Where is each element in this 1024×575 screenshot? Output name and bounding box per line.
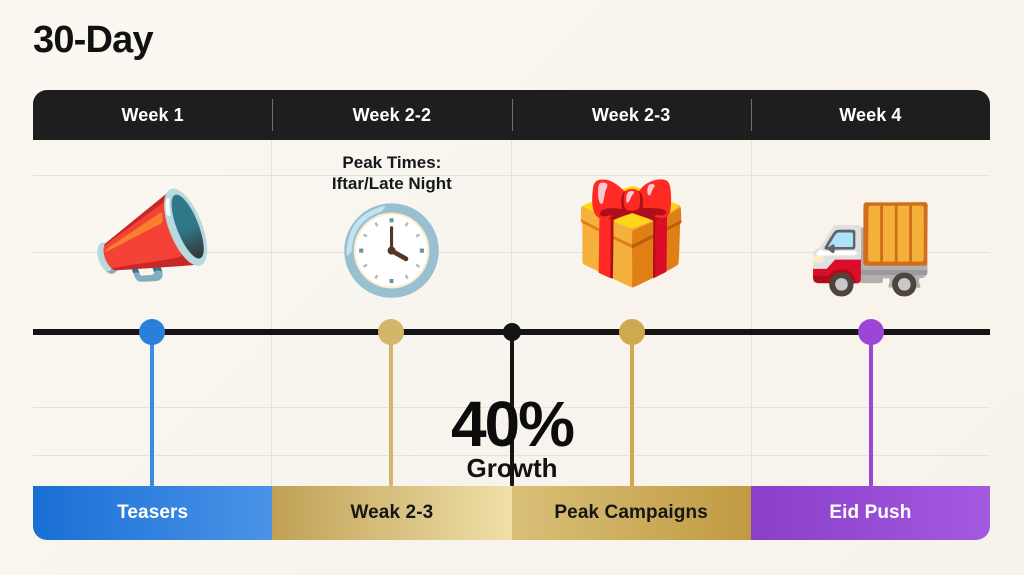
header-cell-week-2-2: Week 2-2 — [272, 90, 511, 140]
timeline-header-bar: Week 1 Week 2-2 Week 2-3 Week 4 — [33, 90, 990, 140]
phase-eid-push[interactable]: Eid Push — [751, 486, 990, 540]
milestone-dot-weak-2-3[interactable] — [378, 319, 404, 345]
header-cell-week-2-3: Week 2-3 — [512, 90, 751, 140]
header-label: Week 1 — [121, 105, 183, 126]
column-caption: Peak Times: Iftar/Late Night — [272, 152, 511, 195]
milestone-stem-weak-2-3 — [389, 334, 393, 486]
phase-label: Weak 2-3 — [350, 502, 433, 524]
clock-icon: 🕓 — [272, 208, 511, 294]
milestone-dot-peak-campaigns[interactable] — [619, 319, 645, 345]
phase-weak-2-3[interactable]: Weak 2-3 — [272, 486, 511, 540]
milestone-stem-eid-push — [869, 334, 873, 486]
growth-stat: 40% Growth — [451, 392, 573, 483]
header-cell-week-4: Week 4 — [751, 90, 990, 140]
phase-label: Peak Campaigns — [554, 502, 707, 524]
infographic-canvas: 30-Day Week 1 Week 2-2 Week 2-3 Week 4 📣… — [0, 0, 1024, 575]
growth-stat-label: Growth — [451, 454, 573, 483]
header-label: Week 4 — [839, 105, 901, 126]
milestone-stem-peak-campaigns — [630, 334, 634, 486]
gift-icon: 🎁 — [512, 184, 751, 282]
growth-stat-value: 40% — [451, 392, 573, 456]
phase-teasers[interactable]: Teasers — [33, 486, 272, 540]
milestone-dot-teasers[interactable] — [139, 319, 165, 345]
delivery-truck-icon: 🚚 — [751, 188, 990, 292]
phase-peak-campaigns[interactable]: Peak Campaigns — [512, 486, 751, 540]
header-cell-week-1: Week 1 — [33, 90, 272, 140]
milestone-dot-midpoint[interactable] — [503, 323, 521, 341]
milestone-dot-eid-push[interactable] — [858, 319, 884, 345]
phase-label: Eid Push — [829, 502, 911, 524]
header-label: Week 2-3 — [592, 105, 671, 126]
megaphone-icon: 📣 — [33, 188, 272, 288]
milestone-stem-teasers — [150, 334, 154, 486]
page-title: 30-Day — [33, 20, 153, 62]
header-label: Week 2-2 — [353, 105, 432, 126]
phase-bar: Teasers Weak 2-3 Peak Campaigns Eid Push — [33, 486, 990, 540]
phase-label: Teasers — [117, 502, 188, 524]
